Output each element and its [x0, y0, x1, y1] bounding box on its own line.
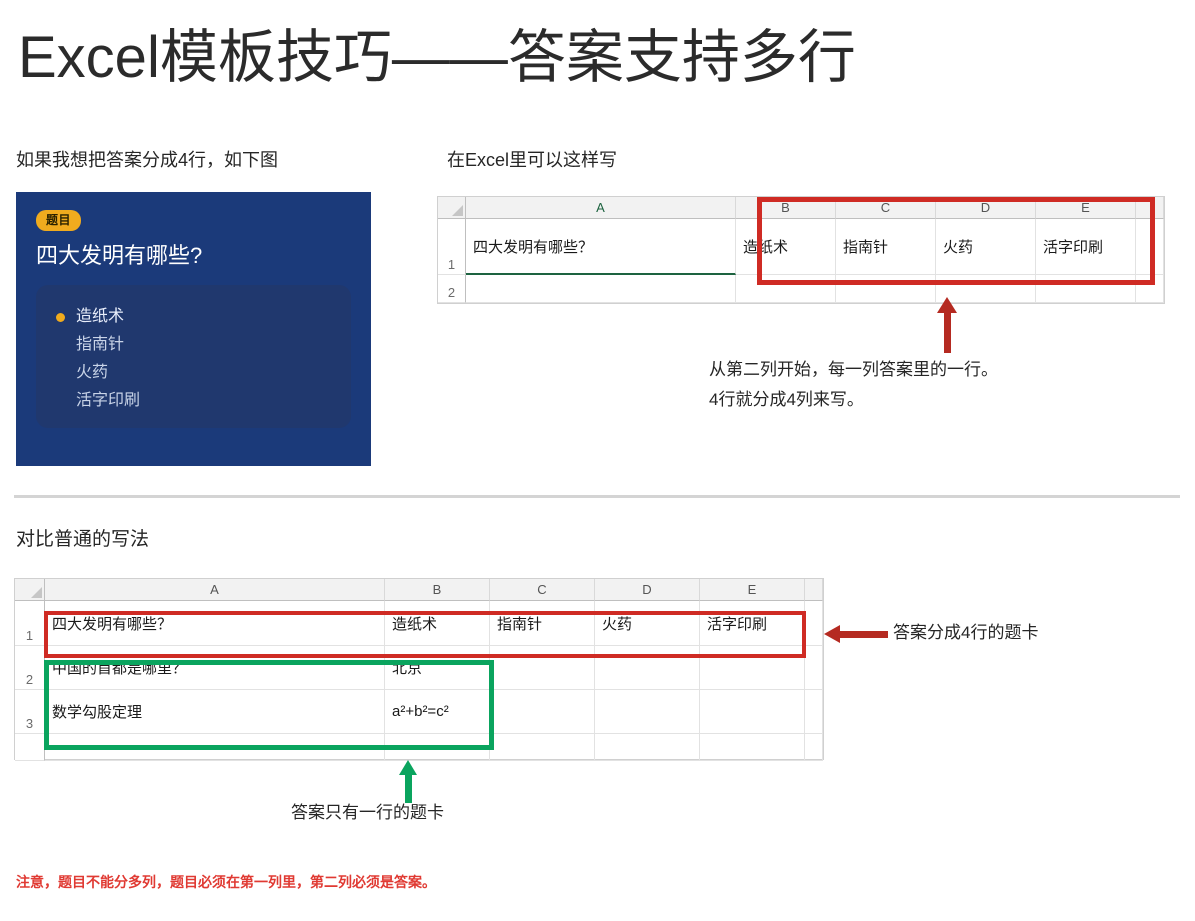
column-header-row: A B C D E [15, 579, 823, 601]
cell-a4[interactable] [45, 734, 385, 761]
answer-row: 指南针 [56, 331, 331, 359]
cell-c2[interactable] [490, 646, 595, 690]
bullet-spacer-icon [56, 341, 65, 350]
question-badge: 题目 [36, 210, 81, 231]
table-row[interactable]: 1 四大发明有哪些？ 造纸术 指南针 火药 活字印刷 [15, 601, 823, 646]
column-header-d[interactable]: D [936, 197, 1036, 219]
row-header-4[interactable] [15, 734, 45, 761]
answer-label: 造纸术 [76, 303, 124, 331]
row-header-2[interactable]: 2 [15, 646, 45, 690]
cell-f3[interactable] [805, 690, 823, 734]
column-header-b[interactable]: B [736, 197, 836, 219]
cell-d3[interactable] [595, 690, 700, 734]
column-header-e[interactable]: E [1036, 197, 1136, 219]
table-row[interactable]: 1 四大发明有哪些？ 造纸术 指南针 火药 活字印刷 [438, 219, 1164, 275]
cell-b4[interactable] [385, 734, 490, 761]
row-header-3[interactable]: 3 [15, 690, 45, 734]
cell-c1[interactable]: 指南针 [490, 601, 595, 646]
cell-d4[interactable] [595, 734, 700, 761]
annotation-top-line2: 4行就分成4列来写。 [709, 385, 998, 415]
cell-f1[interactable] [1136, 219, 1164, 275]
table-row[interactable]: 3 数学勾股定理 a²+b²=c² [15, 690, 823, 734]
bullet-spacer-icon [56, 397, 65, 406]
cell-e4[interactable] [700, 734, 805, 761]
cell-e1[interactable]: 活字印刷 [700, 601, 805, 646]
table-row[interactable] [15, 734, 823, 761]
caption-left: 如果我想把答案分成4行，如下图 [16, 148, 278, 172]
top-spreadsheet[interactable]: A B C D E 1 四大发明有哪些？ 造纸术 指南针 火药 活字印刷 2 [437, 196, 1165, 304]
answer-row: 火药 [56, 359, 331, 387]
column-header-f[interactable] [805, 579, 823, 601]
cell-b2[interactable]: 北京 [385, 646, 490, 690]
cell-a1[interactable]: 四大发明有哪些？ [466, 219, 736, 275]
cell-a2[interactable] [466, 275, 736, 303]
row-header-1[interactable]: 1 [15, 601, 45, 646]
cell-b3[interactable]: a²+b²=c² [385, 690, 490, 734]
arrow-up-icon [937, 297, 958, 355]
row-header-1[interactable]: 1 [438, 219, 466, 275]
cell-e3[interactable] [700, 690, 805, 734]
cell-a3[interactable]: 数学勾股定理 [45, 690, 385, 734]
cell-b2[interactable] [736, 275, 836, 303]
answer-label: 火药 [76, 359, 108, 387]
column-header-a[interactable]: A [45, 579, 385, 601]
table-row[interactable]: 2 中国的首都是哪里？ 北京 [15, 646, 823, 690]
caption-right: 在Excel里可以这样写 [447, 148, 617, 172]
question-text: 四大发明有哪些? [36, 241, 351, 271]
arrow-left-icon [824, 625, 890, 644]
cell-b1[interactable]: 造纸术 [385, 601, 490, 646]
page-title: Excel模板技巧——答案支持多行 [18, 22, 856, 94]
cell-c1[interactable]: 指南针 [836, 219, 936, 275]
cell-d1[interactable]: 火药 [595, 601, 700, 646]
cell-b1[interactable]: 造纸术 [736, 219, 836, 275]
annotation-top-line1: 从第二列开始，每一列答案里的一行。 [709, 355, 998, 385]
column-header-c[interactable]: C [490, 579, 595, 601]
answer-label: 指南针 [76, 331, 124, 359]
column-header-e[interactable]: E [700, 579, 805, 601]
cell-f4[interactable] [805, 734, 823, 761]
column-header-b[interactable]: B [385, 579, 490, 601]
question-card: 题目 四大发明有哪些? 造纸术 指南针 火药 活字印刷 [16, 192, 371, 466]
select-all-corner-icon[interactable] [438, 197, 466, 219]
cell-e1[interactable]: 活字印刷 [1036, 219, 1136, 275]
column-header-row: A B C D E [438, 197, 1164, 219]
cell-f1[interactable] [805, 601, 823, 646]
annotation-bottom: 答案只有一行的题卡 [291, 798, 444, 828]
cell-f2[interactable] [805, 646, 823, 690]
annotation-top: 从第二列开始，每一列答案里的一行。 4行就分成4列来写。 [709, 355, 998, 415]
cell-d1[interactable]: 火药 [936, 219, 1036, 275]
column-header-d[interactable]: D [595, 579, 700, 601]
select-all-corner-icon[interactable] [15, 579, 45, 601]
cell-a1[interactable]: 四大发明有哪些？ [45, 601, 385, 646]
cell-e2[interactable] [700, 646, 805, 690]
column-header-a[interactable]: A [466, 197, 736, 219]
answer-row: 造纸术 [56, 303, 331, 331]
cell-c3[interactable] [490, 690, 595, 734]
cell-c4[interactable] [490, 734, 595, 761]
annotation-right: 答案分成4行的题卡 [893, 618, 1038, 648]
cell-a2[interactable]: 中国的首都是哪里？ [45, 646, 385, 690]
bottom-spreadsheet[interactable]: A B C D E 1 四大发明有哪些？ 造纸术 指南针 火药 活字印刷 2 中… [14, 578, 824, 760]
caption-compare: 对比普通的写法 [16, 528, 149, 552]
answer-panel: 造纸术 指南针 火药 活字印刷 [36, 285, 351, 428]
bullet-dot-icon [56, 313, 65, 322]
cell-c2[interactable] [836, 275, 936, 303]
column-header-c[interactable]: C [836, 197, 936, 219]
table-row[interactable]: 2 [438, 275, 1164, 303]
row-header-2[interactable]: 2 [438, 275, 466, 303]
answer-label: 活字印刷 [76, 387, 140, 415]
cell-f2[interactable] [1136, 275, 1164, 303]
cell-e2[interactable] [1036, 275, 1136, 303]
answer-row: 活字印刷 [56, 387, 331, 415]
section-divider [14, 495, 1180, 498]
footer-note: 注意，题目不能分多列，题目必须在第一列里，第二列必须是答案。 [16, 872, 436, 892]
cell-d2[interactable] [595, 646, 700, 690]
column-header-f[interactable] [1136, 197, 1164, 219]
bullet-spacer-icon [56, 369, 65, 378]
